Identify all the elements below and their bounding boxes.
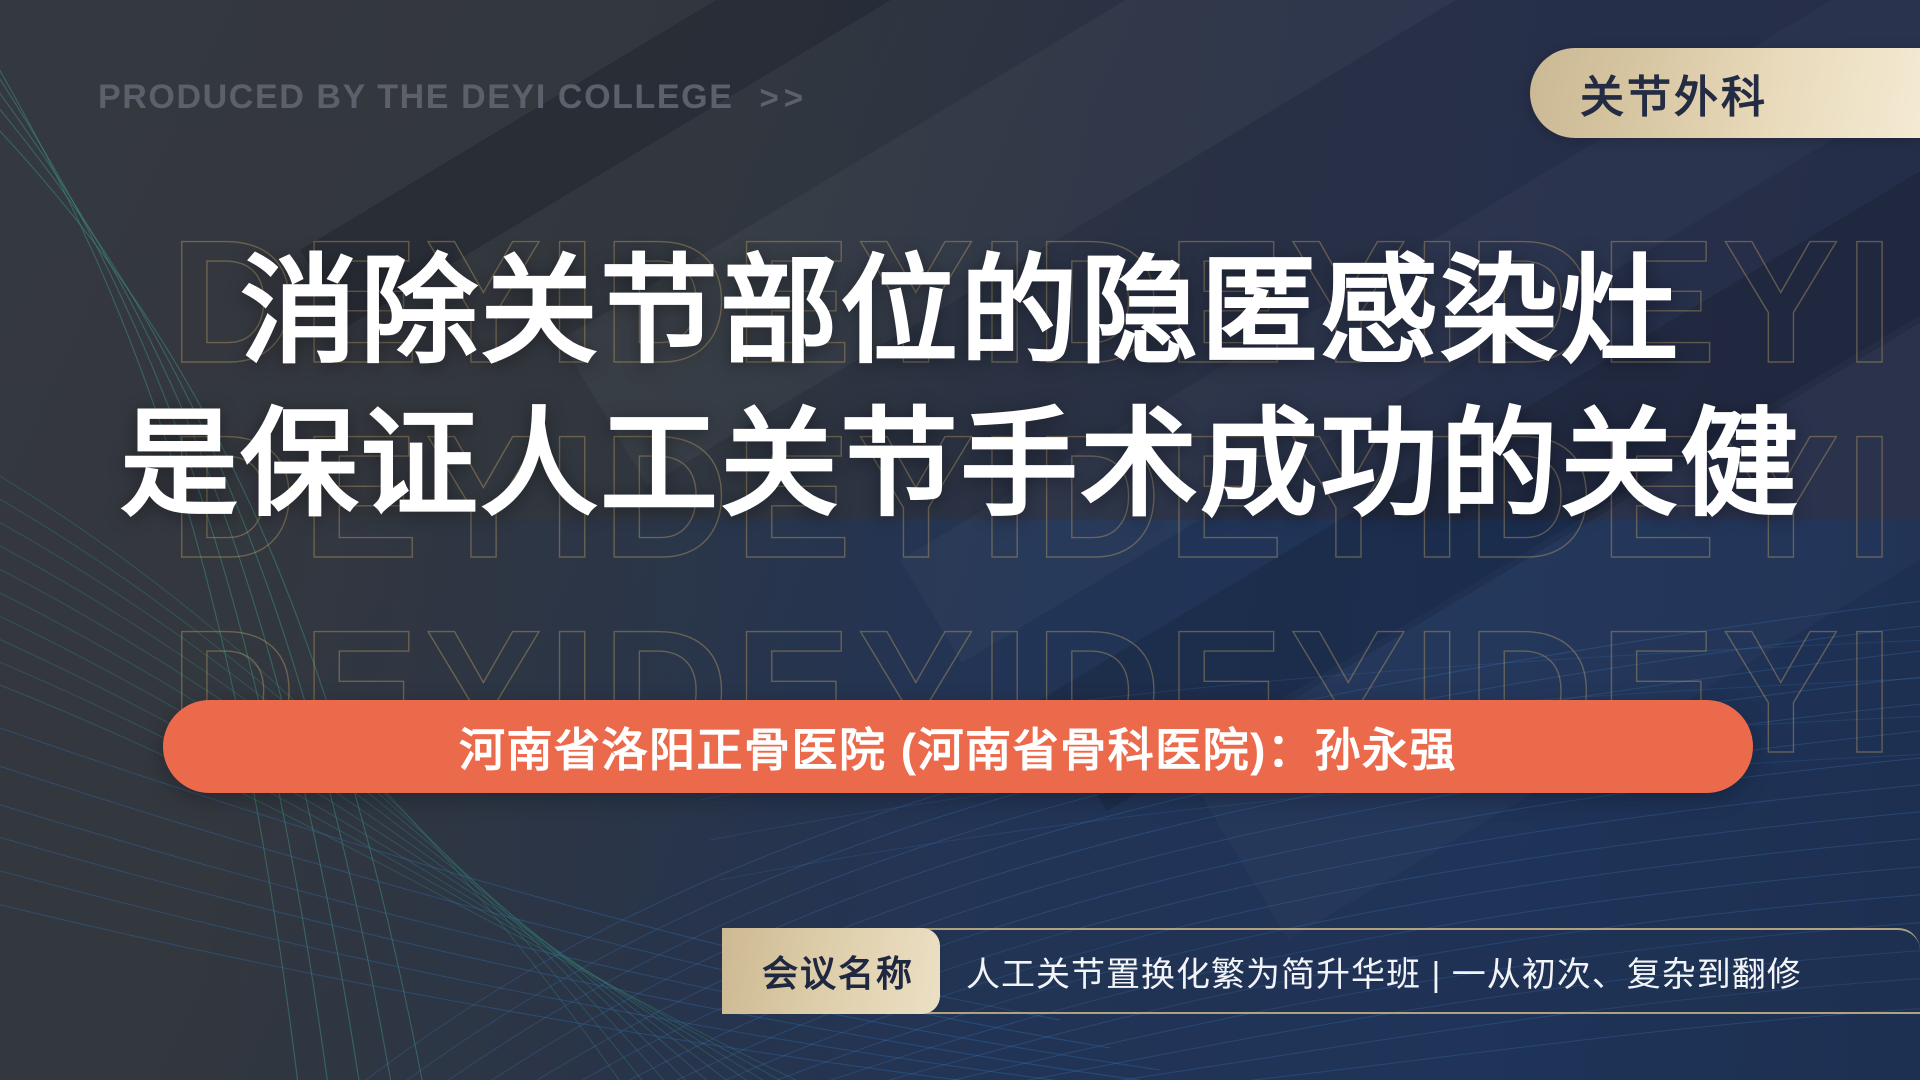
title-line-2: 是保证人工关节手术成功的关健 [0, 389, 1920, 542]
department-badge: 关节外科 [1530, 48, 1920, 138]
meeting-label-text: 会议名称 [762, 945, 914, 997]
title-line-1: 消除关节部位的隐匿感染灶 [0, 236, 1920, 389]
meeting-value-text: 人工关节置换化繁为简升华班 | 一从初次、复杂到翻修 [966, 947, 1802, 996]
slide-title: 消除关节部位的隐匿感染灶 是保证人工关节手术成功的关健 [0, 236, 1920, 543]
speaker-affiliation-pill: 河南省洛阳正骨医院 (河南省骨科医院)：孙永强 [163, 700, 1753, 793]
meeting-name-value: 人工关节置换化繁为简升华班 | 一从初次、复杂到翻修 [940, 930, 1832, 1012]
chevron-right-icon: >> [759, 79, 808, 117]
producer-label: PRODUCED BY THE DEYI COLLEGE [98, 78, 733, 117]
department-badge-label: 关节外科 [1580, 61, 1768, 125]
meeting-name-label: 会议名称 [722, 928, 940, 1014]
speaker-affiliation-text: 河南省洛阳正骨医院 (河南省骨科医院)：孙永强 [459, 714, 1457, 780]
meeting-name-bar: 会议名称 人工关节置换化繁为简升华班 | 一从初次、复杂到翻修 [722, 928, 1920, 1014]
slide-canvas: DEYIDEYIDEYIDEYI DEYIDEYIDEYIDEYI DEYIDE… [0, 0, 1920, 1080]
header-producer: PRODUCED BY THE DEYI COLLEGE >> [98, 78, 808, 117]
